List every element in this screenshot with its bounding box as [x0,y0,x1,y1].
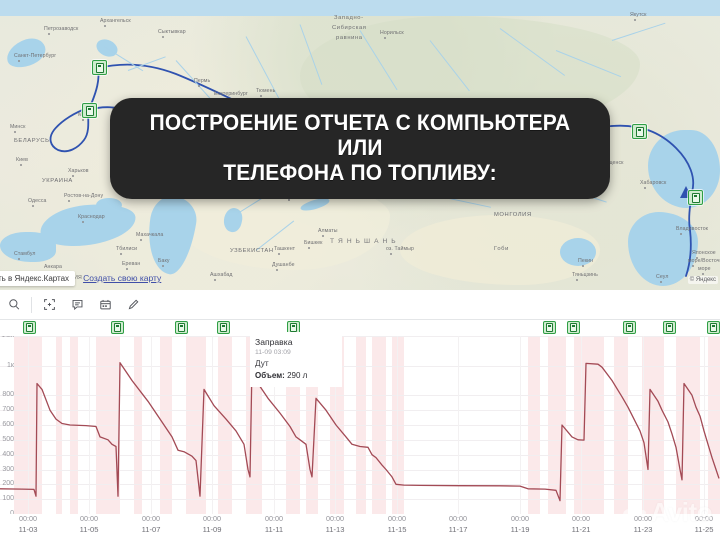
map-label: Сибирская [332,25,367,31]
fuel-pump-icon [692,193,700,203]
map-label: Ташкент [274,246,295,252]
map-label: Тюмень [256,88,275,94]
map-city-dot [162,36,164,38]
map-fuel-station-marker[interactable] [82,103,97,118]
chart-x-tick-time: 00:00 [315,514,355,524]
map-label: Владивосток [676,226,708,232]
map-label: Норильск [380,30,404,36]
map-city-dot [692,265,694,267]
tooltip-timestamp: 11-09 03:09 [255,348,337,358]
map-city-dot [288,199,290,201]
chart-refuel-marker[interactable] [623,321,636,334]
map-city-dot [680,233,682,235]
map-city-dot [582,265,584,267]
map-label: Пекин [578,258,593,264]
map-bottom-chrome: ть в Яндекс.Картах Создать свою карту [0,270,720,286]
map-label: Стамбул [14,251,36,257]
map-panel[interactable]: ПетрозаводскСанкт-ПетербургСыктывкарЗапа… [0,0,720,290]
map-city-dot [68,200,70,202]
map-label: Санкт-Петербург [14,53,56,59]
map-label: Сыктывкар [158,29,186,35]
map-label: Алматы [318,228,338,234]
map-city-dot [308,247,310,249]
magnifier-icon[interactable] [0,293,28,317]
map-label: Душанбе [272,262,295,268]
chart-y-tick-label: 1.2к [0,336,14,339]
map-city-dot [104,25,106,27]
chart-y-tick-label: 600 [0,421,14,428]
map-city-dot [644,187,646,189]
map-city-dot [322,235,324,237]
fuel-level-line [0,363,719,501]
map-label: Бишкек [304,240,323,246]
map-label: Хабаровск [640,180,666,186]
chart-refuel-markers[interactable] [0,320,720,336]
chart-y-tick-label: 200 [0,480,14,487]
chart-x-tick-time: 00:00 [254,514,294,524]
map-label: УКРАИНА [42,178,73,184]
map-label: оз. Таймыр [386,246,414,252]
map-attribution: © Яндекс [688,276,718,284]
chart-x-tick-time: 00:00 [69,514,109,524]
fuel-pump-icon [666,323,673,332]
fuel-pump-icon [570,323,577,332]
map-city-dot [32,205,34,207]
pencil-icon[interactable] [119,293,147,317]
map-label: равнина [336,35,363,41]
fuel-pump-icon [546,323,553,332]
chart-y-tick-label: 1к [0,362,14,369]
map-label: УЗБЕКИСТАН [230,248,274,254]
create-your-map-link[interactable]: Создать свою карту [83,273,161,283]
map-city-dot [162,265,164,267]
tooltip-title: Заправка [255,336,337,348]
fuel-pump-icon [636,127,644,137]
map-label: Ереван [122,261,140,267]
map-label: Екатеринбург [214,91,248,97]
map-city-dot [278,253,280,255]
banner-line-1: ПОСТРОЕНИЕ ОТЧЕТА С КОМПЬЮТЕРА ИЛИ [144,110,576,160]
map-label: Т Я Н Ь Ш А Н Ь [330,238,397,245]
chart-x-tick-time: 00:00 [192,514,232,524]
map-city-dot [260,95,262,97]
map-city-dot [18,258,20,260]
chart-plot-area[interactable]: 1.2к1к8007006005004003002001000 [0,336,720,514]
chart-x-tick-time: 00:00 [561,514,601,524]
map-city-dot [82,119,84,121]
chart-refuel-marker[interactable] [567,321,580,334]
map-city-dot [82,221,84,223]
map-city-dot [18,60,20,62]
map-city-dot [120,253,122,255]
map-label: Архангельск [100,18,131,24]
chart-x-tick-time: 00:00 [684,514,720,524]
fuel-level-series [0,336,720,514]
chart-refuel-marker[interactable] [23,321,36,334]
chart-refuel-marker[interactable] [111,321,124,334]
chart-y-tick-label: 700 [0,406,14,413]
chart-x-tick-time: 00:00 [438,514,478,524]
map-city-dot [140,239,142,241]
chart-x-tick-time: 00:00 [377,514,417,524]
map-label: Одесса [28,198,47,204]
chart-refuel-marker[interactable] [663,321,676,334]
calendar-icon[interactable] [91,293,119,317]
chart-y-tick-label: 300 [0,466,14,473]
map-label: Минск [10,124,25,130]
chart-y-tick-label: 800 [0,391,14,398]
map-fuel-station-marker[interactable] [632,124,647,139]
comment-icon[interactable] [63,293,91,317]
map-label: Харьков [68,168,89,174]
title-banner: ПОСТРОЕНИЕ ОТЧЕТА С КОМПЬЮТЕРА ИЛИ ТЕЛЕФ… [110,98,610,199]
chart-refuel-marker[interactable] [217,321,230,334]
map-label: Западно- [334,15,364,21]
map-label: Гоби [494,246,509,252]
fuel-pump-icon [86,106,94,116]
map-city-dot [48,33,50,35]
fuel-pump-icon [96,63,104,73]
map-fuel-station-marker[interactable] [688,190,703,205]
chart-refuel-marker[interactable] [707,321,720,334]
fuel-pump-icon [220,323,227,332]
chart-toolbar[interactable] [0,290,720,320]
fuel-pump-icon [290,323,297,332]
map-city-dot [14,131,16,133]
map-label: МОНГОЛИЯ [494,212,532,218]
tooltip-volume-value: 290 л [287,371,307,380]
open-in-yandex-maps-button[interactable]: ть в Яндекс.Картах [0,271,75,286]
map-label: Краснодар [78,214,105,220]
fuel-pump-icon [114,323,121,332]
chart-refuel-marker[interactable] [543,321,556,334]
chart-x-tick-time: 00:00 [623,514,663,524]
fuel-pump-icon [178,323,185,332]
footer-strip [0,532,720,540]
banner-line-2: ТЕЛЕФОНА ПО ТОПЛИВУ: [144,160,576,185]
tooltip-volume-label: Объем: [255,371,285,380]
chart-y-tick-label: 500 [0,436,14,443]
map-city-dot [634,19,636,21]
map-label: БЕЛАРУСЬ [14,138,50,144]
chart-x-tick-time: 00:00 [131,514,171,524]
refuel-tooltip: Заправка 11-09 03:09 Дут Объем: 290 л [250,332,342,387]
fuel-chart[interactable]: 1.2к1к8007006005004003002001000 00:0011-… [0,320,720,540]
map-label: море/Восточное [688,258,720,264]
map-label: Ростов-на-Дону [64,193,103,199]
chart-y-tick-label: 400 [0,451,14,458]
fuel-pump-icon [26,323,33,332]
fuel-pump-icon [710,323,717,332]
map-label: Тбилиси [116,246,137,252]
chart-x-tick-time: 00:00 [8,514,48,524]
map-label: Киев [16,157,28,163]
map-city-dot [198,85,200,87]
tooltip-volume: Объем: 290 л [255,370,337,382]
map-city-dot [384,37,386,39]
map-fuel-station-marker[interactable] [92,60,107,75]
map-label: Петрозаводск [44,26,78,32]
map-city-dot [72,175,74,177]
map-city-dot [20,164,22,166]
map-label: Баку [158,258,170,264]
map-label: Пермь [194,78,210,84]
map-label: Махачкала [136,232,163,238]
chart-x-tick-time: 00:00 [500,514,540,524]
toolbar-divider [31,297,32,313]
expand-icon[interactable] [35,293,63,317]
tooltip-sensor-name: Дут [255,358,337,370]
chart-y-tick-label: 100 [0,495,14,502]
map-city-dot [390,253,392,255]
map-label: Японское [692,250,716,256]
screenshot-root: ПетрозаводскСанкт-ПетербургСыктывкарЗапа… [0,0,720,540]
chart-refuel-marker[interactable] [175,321,188,334]
map-label: Якутск [630,12,646,18]
fuel-pump-icon [626,323,633,332]
